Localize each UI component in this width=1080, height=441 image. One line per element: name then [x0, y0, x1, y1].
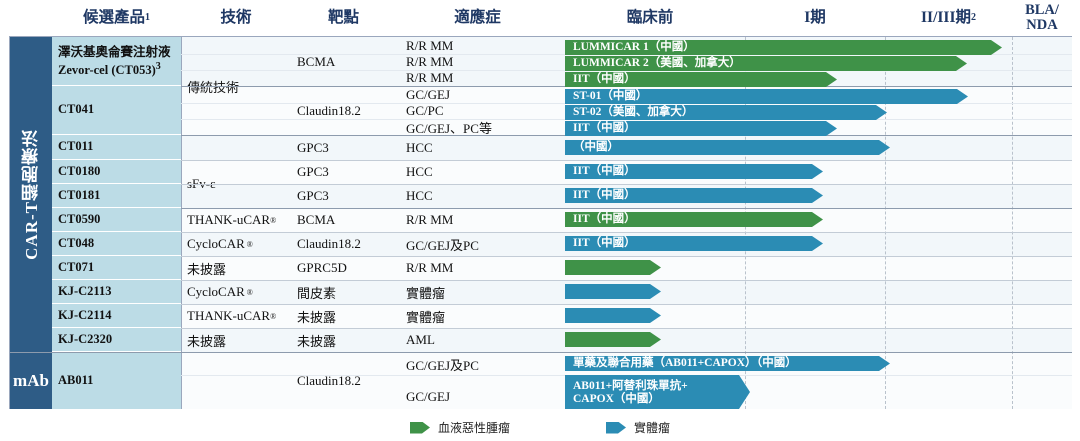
- target-label: GPRC5D: [297, 260, 347, 276]
- target-label: 未披露: [297, 307, 336, 326]
- legend-item-hematologic: 血液惡性腫瘤: [410, 419, 510, 436]
- product-cell-ct0180[interactable]: CT0180: [52, 160, 181, 184]
- header-candidate-product: 候選產品1: [52, 0, 181, 36]
- target-cell-bcma-1: BCMA: [291, 37, 396, 86]
- product-name: CT041: [58, 102, 94, 118]
- header-bla-label: BLA/: [1025, 3, 1059, 18]
- bar-iit-ct0590[interactable]: IIT（中國）: [565, 212, 823, 227]
- target-cell-undisclosed-2: 未披露: [291, 328, 396, 352]
- header-technology: 技術: [181, 0, 291, 36]
- tech-label: CycloCAR: [187, 236, 245, 252]
- bar-st-01[interactable]: ST-01（中國）: [565, 89, 968, 104]
- bar-st-02[interactable]: ST-02（美國、加拿大）: [565, 105, 887, 120]
- tech-label: 未披露: [187, 331, 226, 350]
- tech-label: CycloCAR: [187, 284, 245, 300]
- bar-label-line2: CAPOX（中國）: [573, 393, 688, 406]
- indication-cell: GC/GEJ: [400, 388, 555, 406]
- bar-iit-ct041[interactable]: IIT（中國）: [565, 121, 837, 136]
- indication-label: HCC: [406, 188, 433, 204]
- bar-ct011-china[interactable]: （中國）: [565, 140, 890, 155]
- product-cell-ct071[interactable]: CT071: [52, 256, 181, 280]
- tech-cell-cyclocar-2: CycloCAR ®: [181, 280, 291, 304]
- bar-ab011-atezolizumab-capox[interactable]: AB011+阿替利珠單抗+ CAPOX（中國）: [565, 375, 750, 409]
- category-cart: CAR-T細胞療法: [10, 37, 52, 352]
- legend-item-solid-tumor: 實體瘤: [606, 419, 670, 436]
- indication-label: GC/GEJ及PC: [406, 355, 479, 374]
- target-cell-bcma-2: BCMA: [291, 208, 396, 232]
- indication-label: HCC: [406, 164, 433, 180]
- tech-label: THANK-uCAR: [187, 308, 270, 324]
- indication-cell: R/R MM: [400, 54, 555, 70]
- indication-cell: R/R MM: [400, 38, 555, 54]
- pipeline-chart: 候選產品1 技術 靶點 適應症 臨床前 I期 II/III期2 BLA/ NDA: [0, 0, 1080, 441]
- indication-cell: 實體瘤: [400, 280, 555, 304]
- registered-icon: ®: [245, 288, 253, 297]
- target-cell-claudin-2: Claudin18.2: [291, 232, 396, 256]
- target-label: GPC3: [297, 140, 329, 156]
- product-name: CT0590: [58, 212, 100, 228]
- tech-cell-undisclosed-2: 未披露: [181, 328, 291, 352]
- category-mab: mAb: [10, 352, 52, 409]
- category-cart-label: CAR-T細胞療法: [19, 129, 44, 260]
- product-name-line1: 澤沃基奧侖賽注射液: [58, 44, 171, 60]
- indication-label: GC/GEJ: [406, 389, 450, 405]
- target-cell-gpc3-2: GPC3: [291, 160, 396, 184]
- chart-legend: 血液惡性腫瘤 實體瘤: [0, 414, 1080, 441]
- product-name: KJ-C2114: [58, 308, 111, 324]
- indication-label: R/R MM: [406, 38, 453, 54]
- chart-header: 候選產品1 技術 靶點 適應症 臨床前 I期 II/III期2 BLA/ NDA: [0, 0, 1080, 36]
- target-label: BCMA: [297, 54, 335, 70]
- bar-label-line1: AB011+阿替利珠單抗+: [573, 380, 688, 393]
- target-cell-claudin-1: Claudin18.2: [291, 86, 396, 135]
- bar-label: IIT（中國）: [573, 213, 636, 226]
- indication-label: R/R MM: [406, 212, 453, 228]
- header-phase23: II/III期2: [885, 0, 1012, 36]
- bar-iit-ct053[interactable]: IIT（中國）: [565, 72, 837, 87]
- bar-iit-ct048[interactable]: IIT（中國）: [565, 236, 823, 251]
- bar-label: LUMMICAR 1（中國）: [573, 41, 695, 54]
- target-cell-gprc5d: GPRC5D: [291, 256, 396, 280]
- bar-label: 單藥及聯合用藥（AB011+CAPOX）（中國）: [573, 357, 797, 370]
- header-preclinical: 臨床前: [555, 0, 745, 36]
- indication-label: GC/GEJ、PC等: [406, 118, 492, 137]
- bar-kjc2113[interactable]: [565, 284, 661, 299]
- indication-cell: HCC: [400, 184, 555, 208]
- category-mab-label: mAb: [13, 371, 49, 391]
- legend-label-solid-tumor: 實體瘤: [634, 419, 670, 436]
- product-name: CT071: [58, 260, 94, 276]
- bar-lummicar-1[interactable]: LUMMICAR 1（中國）: [565, 40, 1002, 55]
- bar-label: ST-02（美國、加拿大）: [573, 106, 693, 119]
- header-phase23-label: II/III期: [921, 10, 971, 26]
- registered-icon: ®: [270, 312, 276, 321]
- product-name: CT0181: [58, 188, 100, 204]
- header-nda-label: NDA: [1026, 18, 1057, 33]
- registered-icon: ®: [270, 216, 276, 225]
- bar-iit-ct0181[interactable]: IIT（中國）: [565, 188, 823, 203]
- bar-label: IIT（中國）: [573, 73, 636, 86]
- product-cell-ct011[interactable]: CT011: [52, 135, 181, 160]
- bar-ct071[interactable]: [565, 260, 661, 275]
- product-cell-ab011[interactable]: AB011: [52, 352, 181, 409]
- product-cell-ct041[interactable]: CT041: [52, 86, 181, 135]
- header-phase1: I期: [745, 0, 885, 36]
- target-label: Claudin18.2: [297, 236, 361, 252]
- header-indication: 適應症: [400, 0, 555, 36]
- bar-ab011-mono-capox[interactable]: 單藥及聯合用藥（AB011+CAPOX）（中國）: [565, 356, 890, 371]
- header-phase23-sup: 2: [971, 13, 976, 24]
- product-name: AB011: [58, 373, 93, 389]
- indication-label: 實體瘤: [406, 283, 445, 302]
- product-name: CT0180: [58, 164, 100, 180]
- tech-label: 未披露: [187, 259, 226, 278]
- product-cell-kjc2113[interactable]: KJ-C2113: [52, 280, 181, 304]
- legend-label-hematologic: 血液惡性腫瘤: [438, 419, 510, 436]
- legend-swatch-green-icon: [410, 422, 430, 434]
- target-label: GPC3: [297, 164, 329, 180]
- tech-cell-thankucar-2: THANK-uCAR®: [181, 304, 291, 328]
- bar-label: IIT（中國）: [573, 165, 636, 178]
- header-target-label: 靶點: [328, 10, 359, 26]
- product-name: CT011: [58, 139, 93, 155]
- indication-cell: GC/GEJ及PC: [400, 232, 555, 256]
- tech-cell-cyclocar-1: CycloCAR ®: [181, 232, 291, 256]
- tech-cell-undisclosed-1: 未披露: [181, 256, 291, 280]
- indication-cell: 實體瘤: [400, 304, 555, 328]
- product-cell-ct0590[interactable]: CT0590: [52, 208, 181, 232]
- indication-label: 實體瘤: [406, 307, 445, 326]
- target-label: GPC3: [297, 188, 329, 204]
- target-cell-undisclosed-1: 未披露: [291, 304, 396, 328]
- indication-cell: GC/GEJ及PC: [400, 355, 555, 373]
- header-preclinical-label: 臨床前: [627, 10, 674, 26]
- indication-cell: HCC: [400, 160, 555, 184]
- indication-label: GC/GEJ: [406, 87, 450, 103]
- product-cell-ct048[interactable]: CT048: [52, 232, 181, 256]
- bar-lummicar-2[interactable]: LUMMICAR 2（美國、加拿大）: [565, 56, 967, 71]
- bar-label: LUMMICAR 2（美國、加拿大）: [573, 57, 741, 70]
- product-cell-kjc2114[interactable]: KJ-C2114: [52, 304, 181, 328]
- indication-cell: R/R MM: [400, 208, 555, 232]
- indication-cell: HCC: [400, 135, 555, 160]
- indication-cell: AML: [400, 328, 555, 352]
- product-name-line2: Zevor-cel (CT053): [58, 63, 156, 77]
- tech-label: THANK-uCAR: [187, 212, 270, 228]
- header-phase1-label: I期: [804, 10, 826, 26]
- indication-label: GC/GEJ及PC: [406, 235, 479, 254]
- tech-cell-thankucar-1: THANK-uCAR®: [181, 208, 291, 232]
- header-bla-nda: BLA/ NDA: [1012, 0, 1072, 36]
- indication-cell: GC/GEJ、PC等: [400, 119, 555, 135]
- indication-label: R/R MM: [406, 70, 453, 86]
- target-label: BCMA: [297, 212, 335, 228]
- product-cell-kjc2320[interactable]: KJ-C2320: [52, 328, 181, 352]
- bar-label: （中國）: [573, 141, 619, 154]
- product-cell-zevor-cel[interactable]: 澤沃基奧侖賽注射液 Zevor-cel (CT053)3: [52, 37, 181, 86]
- product-name: KJ-C2113: [58, 284, 111, 300]
- header-indication-label: 適應症: [454, 10, 501, 26]
- indication-label: AML: [406, 332, 435, 348]
- indication-label: HCC: [406, 140, 433, 156]
- indication-cell: GC/GEJ: [400, 87, 555, 103]
- bar-kjc2114[interactable]: [565, 308, 661, 323]
- legend-swatch-blue-icon: [606, 422, 626, 434]
- bar-iit-ct0180[interactable]: IIT（中國）: [565, 164, 823, 179]
- bar-kjc2320[interactable]: [565, 332, 661, 347]
- bar-label: IIT（中國）: [573, 122, 636, 135]
- target-label: 間皮素: [297, 283, 336, 302]
- indication-label: R/R MM: [406, 54, 453, 70]
- gridline-bla: [1012, 37, 1013, 409]
- indication-label: R/R MM: [406, 260, 453, 276]
- registered-icon: ®: [245, 240, 253, 249]
- header-target: 靶點: [291, 0, 396, 36]
- product-name: CT048: [58, 236, 94, 252]
- target-cell-claudin-3: Claudin18.2: [291, 352, 396, 409]
- product-name: KJ-C2320: [58, 332, 112, 348]
- indication-cell: R/R MM: [400, 70, 555, 86]
- indication-cell: R/R MM: [400, 256, 555, 280]
- bar-label: IIT（中國）: [573, 189, 636, 202]
- product-name-sup: 3: [156, 61, 161, 72]
- target-cell-gpc3-1: GPC3: [291, 135, 396, 160]
- header-candidate-product-label: 候選產品: [83, 10, 145, 26]
- target-label: Claudin18.2: [297, 103, 361, 119]
- target-cell-gpc3-3: GPC3: [291, 184, 396, 208]
- header-technology-label: 技術: [220, 10, 251, 26]
- header-candidate-product-sup: 1: [145, 13, 150, 24]
- product-cell-ct0181[interactable]: CT0181: [52, 184, 181, 208]
- target-cell-mesothelin: 間皮素: [291, 280, 396, 304]
- target-label: 未披露: [297, 331, 336, 350]
- bar-label: IIT（中國）: [573, 237, 636, 250]
- bar-label: ST-01（中國）: [573, 90, 647, 103]
